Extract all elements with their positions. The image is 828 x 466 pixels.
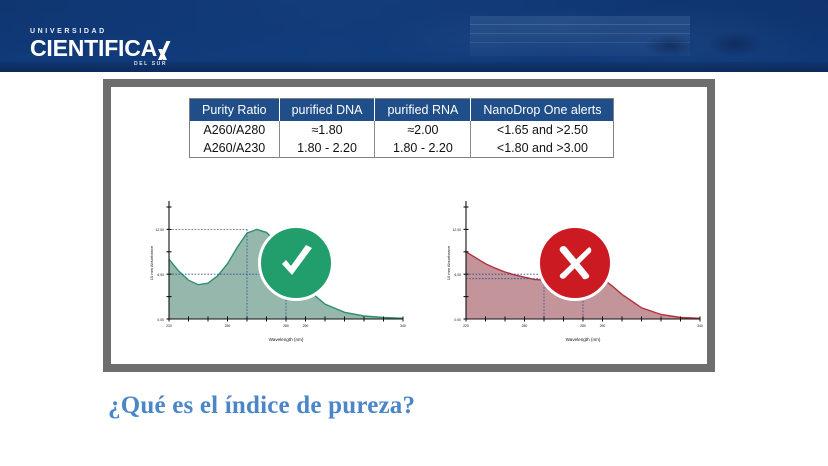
x-axis-label: Wavelength (nm) bbox=[566, 337, 601, 342]
table-header-nanodrop-alerts: NanoDrop One alerts bbox=[471, 99, 614, 122]
logo-slash-icon bbox=[158, 42, 169, 60]
table-cell-alert: <1.80 and >3.00 bbox=[471, 139, 614, 158]
x-tick-label: 290 bbox=[303, 324, 309, 328]
table-cell-ratio: A260/A230 bbox=[190, 139, 280, 158]
y-axis-label: 10 mm Absorbance bbox=[149, 245, 154, 280]
slide-canvas: UNIVERSIDAD CIENTIFICA DEL SUR Purity Ra… bbox=[0, 0, 828, 466]
y-tick-label: 6.00 bbox=[157, 273, 164, 277]
table-cell-dna: ≈1.80 bbox=[279, 121, 375, 139]
table-header-purified-rna: purified RNA bbox=[375, 99, 471, 122]
y-tick-label: 12.00 bbox=[156, 228, 165, 232]
table-row: A260/A280 ≈1.80 ≈2.00 <1.65 and >2.50 bbox=[190, 121, 614, 139]
table-cell-alert: <1.65 and >2.50 bbox=[471, 121, 614, 139]
spectra-charts: 0.006.0012.0010 mm Absorbance22025028029… bbox=[111, 195, 707, 355]
verdict-badge-pass bbox=[258, 225, 334, 301]
y-tick-label: 0.00 bbox=[454, 318, 461, 322]
cross-icon bbox=[551, 239, 599, 287]
purity-ratio-table: Purity Ratio purified DNA purified RNA N… bbox=[189, 98, 614, 158]
table-cell-rna: ≈2.00 bbox=[375, 121, 471, 139]
x-tick-label: 220 bbox=[166, 324, 172, 328]
page-title: ¿Qué es el índice de pureza? bbox=[108, 392, 415, 420]
logo-universidad-text: UNIVERSIDAD bbox=[30, 28, 169, 35]
x-tick-label: 250 bbox=[225, 324, 231, 328]
content-frame-inner: Purity Ratio purified DNA purified RNA N… bbox=[111, 87, 707, 364]
logo-wordmark-text: CIENTIFICA bbox=[30, 37, 157, 60]
x-tick-label: 220 bbox=[463, 324, 469, 328]
x-tick-label: 280 bbox=[283, 324, 289, 328]
check-icon bbox=[272, 239, 320, 287]
x-tick-label: 340 bbox=[400, 324, 406, 328]
logo-delsur-text: DEL SUR bbox=[30, 62, 167, 67]
content-frame: Purity Ratio purified DNA purified RNA N… bbox=[103, 79, 715, 372]
table-cell-rna: 1.80 - 2.20 bbox=[375, 139, 471, 158]
x-tick-label: 280 bbox=[580, 324, 586, 328]
y-tick-label: 0.00 bbox=[157, 318, 164, 322]
banner-trees bbox=[640, 28, 790, 62]
table-row: A260/A230 1.80 - 2.20 1.80 - 2.20 <1.80 … bbox=[190, 139, 614, 158]
y-tick-label: 12.00 bbox=[453, 228, 462, 232]
chart-bad-spectrum: 0.006.0012.0010 mm Absorbance22025028029… bbox=[426, 195, 706, 355]
logo-wordmark: CIENTIFICA bbox=[30, 37, 169, 60]
table-cell-ratio: A260/A280 bbox=[190, 121, 280, 139]
x-tick-label: 290 bbox=[600, 324, 606, 328]
y-axis-label: 10 mm Absorbance bbox=[446, 245, 451, 280]
x-tick-label: 250 bbox=[522, 324, 528, 328]
x-tick-label: 340 bbox=[697, 324, 703, 328]
university-logo: UNIVERSIDAD CIENTIFICA DEL SUR bbox=[30, 28, 169, 67]
y-tick-label: 6.00 bbox=[454, 273, 461, 277]
table-header-row: Purity Ratio purified DNA purified RNA N… bbox=[190, 99, 614, 122]
header-banner: UNIVERSIDAD CIENTIFICA DEL SUR bbox=[0, 0, 828, 72]
chart-good-spectrum: 0.006.0012.0010 mm Absorbance22025028029… bbox=[129, 195, 409, 355]
table-cell-dna: 1.80 - 2.20 bbox=[279, 139, 375, 158]
verdict-badge-fail bbox=[537, 225, 613, 301]
table-header-purity-ratio: Purity Ratio bbox=[190, 99, 280, 122]
table-header-purified-dna: purified DNA bbox=[279, 99, 375, 122]
x-axis-label: Wavelength (nm) bbox=[269, 337, 304, 342]
